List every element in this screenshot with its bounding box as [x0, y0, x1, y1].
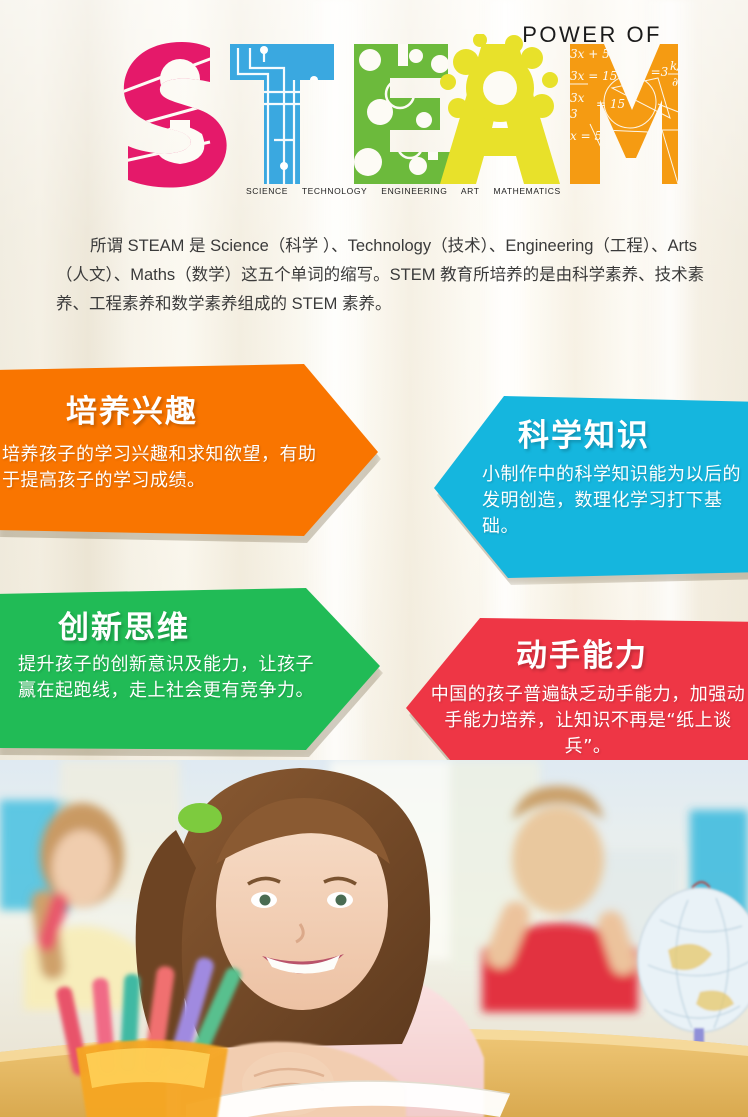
steam-subtitle: SCIENCE TECHNOLOGY ENGINEERING ART MATHE…	[246, 186, 572, 196]
letter-a-art	[428, 34, 574, 194]
banner-description: 中国的孩子普遍缺乏动手能力，加强动手能力培养，让知识不再是“纸上谈兵”。	[428, 682, 748, 760]
svg-text:∂t: ∂t	[672, 75, 678, 89]
svg-text:3x: 3x	[570, 91, 585, 105]
banner-text-group: 培养兴趣 培养孩子的学习兴趣和求知欲望，有助于提高孩子的学习成绩。	[0, 364, 378, 540]
subtitle-word-technology: TECHNOLOGY	[302, 186, 368, 196]
steam-promo-page: POWER OF	[0, 0, 748, 1117]
banner-description: 提升孩子的创新意识及能力，让孩子赢在起跑线，走上社会更有竞争力。	[18, 652, 328, 704]
banner-title: 科学知识	[518, 410, 650, 455]
letter-t-technology	[218, 34, 348, 194]
letter-m-mathematics: 3x + 5 3x = 15 3x 3 = 15 x = 5 J =3 k/hw…	[563, 34, 678, 194]
banner-innovative-thinking: 创新思维 提升孩子的创新意识及能力，让孩子赢在起跑线，走上社会更有竞争力。	[0, 588, 380, 754]
banner-title: 培养兴趣	[66, 386, 198, 431]
banner-text-group: 创新思维 提升孩子的创新意识及能力，让孩子赢在起跑线，走上社会更有竞争力。	[0, 588, 380, 754]
svg-text:J =3: J =3	[639, 65, 669, 79]
svg-text:= 15: = 15	[596, 97, 625, 111]
svg-text:3: 3	[570, 107, 578, 121]
banner-science-knowledge: 科学知识 小制作中的科学知识能为以后的发明创造，数理化学习打下基础。	[434, 396, 748, 578]
letter-e-engineering	[346, 34, 458, 194]
svg-text:k/hw: k/hw	[670, 59, 678, 73]
intro-paragraph: 所谓 STEAM 是 Science（科学 ）、Technology（技术）、E…	[56, 232, 708, 319]
subtitle-word-science: SCIENCE	[246, 186, 288, 196]
svg-text:3x = 15: 3x = 15	[570, 69, 617, 83]
subtitle-word-mathematics: MATHEMATICS	[494, 186, 561, 196]
svg-text:x = 5: x = 5	[570, 129, 602, 143]
banner-title: 创新思维	[58, 602, 190, 647]
steam-wordmark-graphic: 3x + 5 3x = 15 3x 3 = 15 x = 5 J =3 k/hw…	[118, 34, 678, 194]
steam-logo: POWER OF	[118, 18, 678, 208]
letter-s-science	[118, 34, 238, 194]
banner-text-group: 科学知识 小制作中的科学知识能为以后的发明创造，数理化学习打下基础。	[434, 396, 748, 578]
subtitle-word-engineering: ENGINEERING	[381, 186, 447, 196]
subtitle-word-art: ART	[461, 186, 480, 196]
classroom-photo-graphic	[0, 760, 748, 1117]
classroom-photo	[0, 760, 748, 1117]
banner-title: 动手能力	[516, 630, 648, 675]
banner-cultivate-interest: 培养兴趣 培养孩子的学习兴趣和求知欲望，有助于提高孩子的学习成绩。	[0, 364, 378, 540]
svg-text:3x + 5: 3x + 5	[570, 47, 610, 61]
banner-description: 小制作中的科学知识能为以后的发明创造，数理化学习打下基础。	[482, 462, 748, 540]
banner-description: 培养孩子的学习兴趣和求知欲望，有助于提高孩子的学习成绩。	[2, 442, 332, 494]
